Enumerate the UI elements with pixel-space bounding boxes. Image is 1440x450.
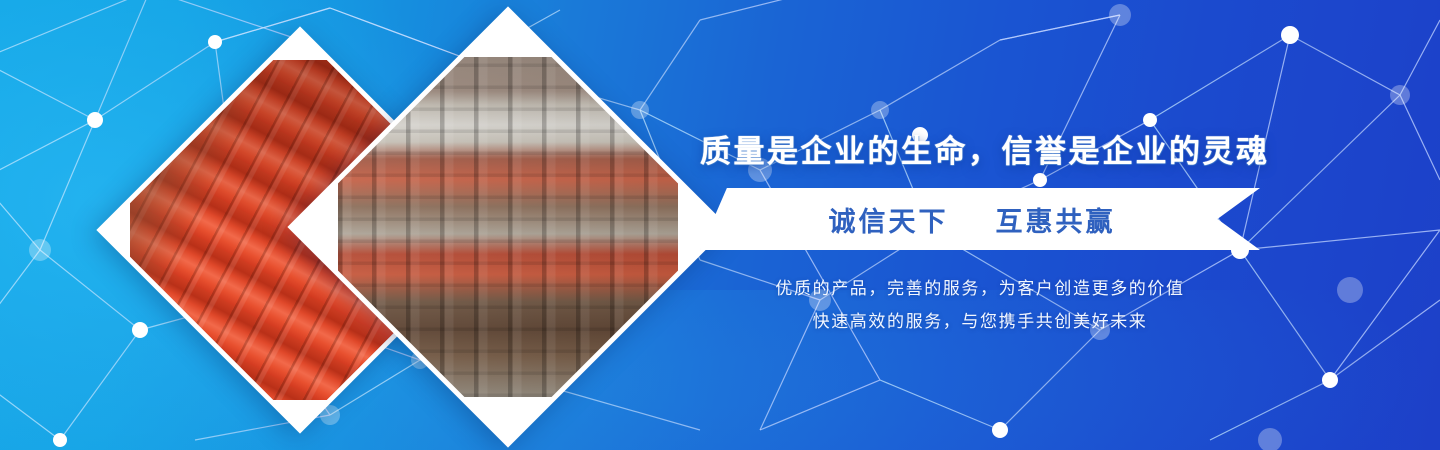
banner-subtitle: 优质的产品，完善的服务，为客户创造更多的价值 快速高效的服务，与您携手共创美好未… [700, 272, 1260, 338]
promotional-banner: 质量是企业的生命，信誉是企业的灵魂 诚信天下 互惠共赢 优质的产品，完善的服务，… [0, 0, 1440, 450]
banner-headline: 质量是企业的生命，信誉是企业的灵魂 [700, 126, 1260, 171]
slogan-left: 诚信天下 [828, 207, 948, 237]
slogan-ribbon-text: 诚信天下 互惠共赢 [828, 200, 1115, 239]
banner-text-block: 质量是企业的生命，信誉是企业的灵魂 诚信天下 互惠共赢 优质的产品，完善的服务，… [700, 126, 1260, 338]
slogan-right: 互惠共赢 [996, 207, 1116, 237]
subtitle-line-2: 快速高效的服务，与您携手共创美好未来 [700, 305, 1260, 338]
subtitle-line-1: 优质的产品，完善的服务，为客户创造更多的价值 [700, 272, 1260, 305]
slogan-ribbon: 诚信天下 互惠共赢 [700, 188, 1260, 250]
